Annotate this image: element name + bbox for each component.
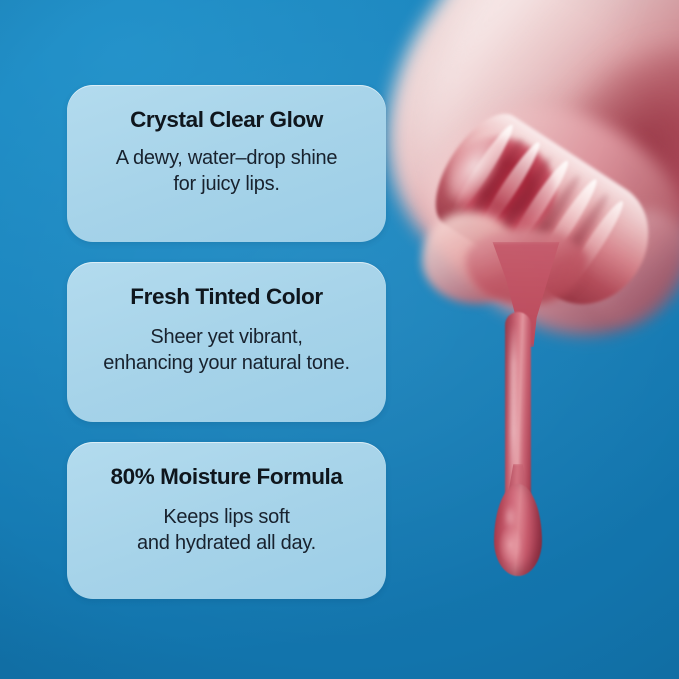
feature-graphic-canvas: Crystal Clear Glow A dewy, water–drop sh… <box>0 0 679 679</box>
feature-card-fresh-tinted-color: Fresh Tinted Color Sheer yet vibrant, en… <box>67 262 386 422</box>
feature-card-crystal-clear-glow: Crystal Clear Glow A dewy, water–drop sh… <box>67 85 386 242</box>
feature-card-list: Crystal Clear Glow A dewy, water–drop sh… <box>67 85 386 599</box>
feature-card-title: Fresh Tinted Color <box>85 284 368 310</box>
feature-card-moisture-formula: 80% Moisture Formula Keeps lips soft and… <box>67 442 386 599</box>
feature-card-body: Sheer yet vibrant, enhancing your natura… <box>85 324 368 377</box>
product-photo <box>404 0 679 634</box>
gloss-droplet-highlight <box>503 500 517 534</box>
feature-card-body: Keeps lips soft and hydrated all day. <box>85 504 368 557</box>
feature-card-title: 80% Moisture Formula <box>85 464 368 490</box>
feature-card-body: A dewy, water–drop shine for juicy lips. <box>85 145 368 198</box>
gloss-droplet <box>494 484 542 576</box>
feature-card-title: Crystal Clear Glow <box>85 107 368 133</box>
